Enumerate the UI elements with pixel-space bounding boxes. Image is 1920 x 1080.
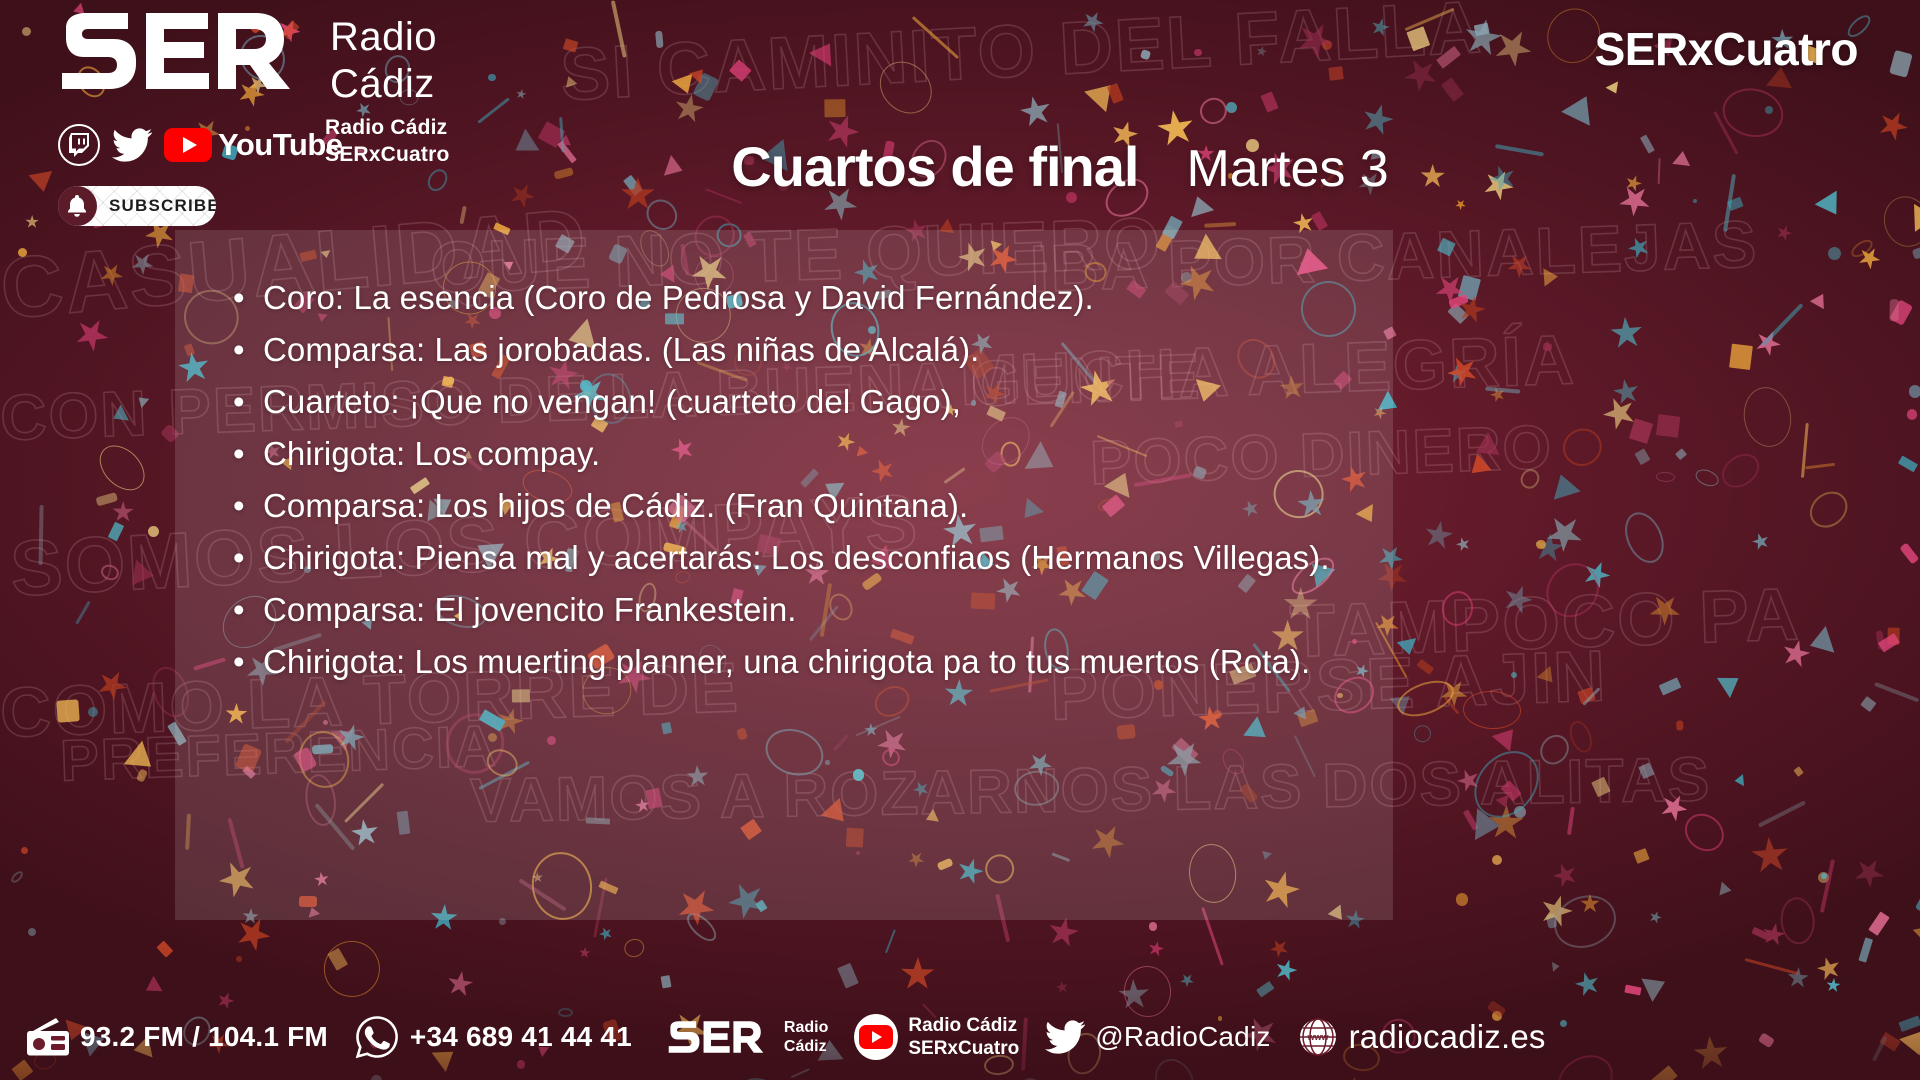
confetti-piece [1454,766,1483,795]
confetti-piece [1437,238,1456,257]
confetti-piece [1503,250,1534,281]
confetti-piece [134,393,149,408]
confetti-piece [1744,829,1796,881]
confetti-piece [90,437,153,500]
confetti-piece [38,504,43,564]
confetti-piece [1889,299,1913,326]
confetti-piece [693,72,720,101]
confetti-piece [1611,377,1641,407]
confetti-piece [1852,857,1885,890]
footer-frequency-group: 93.2 FM / 104.1 FM [26,1018,328,1056]
confetti-piece [1793,766,1803,776]
confetti-piece [1753,328,1782,357]
confetti-piece [1873,682,1919,703]
confetti-piece [1693,199,1698,204]
confetti-piece [1448,294,1468,309]
confetti-piece [1483,801,1528,846]
confetti-piece [1752,532,1770,550]
confetti-piece [1404,8,1453,31]
poster-canvas: SI CAMINITO DEL FALLACASUALIDADQUE NO TE… [0,0,1920,1080]
lineup-panel: Coro: La esencia (Coro de Pedrosa y Davi… [175,230,1393,920]
watermark-text: SI CAMINITO DEL FALLA [558,0,1484,117]
confetti-piece [1854,243,1884,273]
confetti-piece [1877,191,1920,254]
confetti-piece [1204,222,1236,228]
confetti-piece [1273,956,1301,984]
confetti-piece [1470,431,1500,463]
confetti-piece [327,948,347,971]
confetti-piece [478,97,511,123]
confetti-piece [885,929,896,954]
confetti-piece [99,262,124,287]
confetti-piece [1539,507,1591,559]
confetti-piece [1497,579,1538,620]
confetti-piece [132,559,156,588]
lineup-item: Coro: La esencia (Coro de Pedrosa y Davi… [233,272,1363,324]
confetti-piece [1806,626,1835,659]
confetti-piece [1463,809,1479,831]
confetti-piece [1633,849,1649,865]
confetti-piece [148,526,159,537]
headline-row: Cuartos de final Martes 3 [0,134,1920,199]
confetti-piece [1765,106,1773,114]
confetti-piece [1678,806,1732,859]
confetti-piece [611,1,627,58]
footer-youtube-channels: Radio Cádiz SERxCuatro [908,1014,1019,1060]
confetti-piece [1566,717,1596,755]
confetti-piece [1600,393,1640,433]
confetti-piece [621,936,646,959]
footer-youtube-group: Radio Cádiz SERxCuatro [854,1014,1019,1060]
confetti-piece [1546,913,1558,928]
lineup-item: Chirigota: Los compay. [233,428,1363,480]
confetti-piece [655,31,663,48]
confetti-piece [1674,448,1687,461]
confetti-piece [809,37,841,67]
confetti-piece [1734,774,1744,787]
confetti-piece [515,88,527,100]
confetti-piece [1913,915,1920,950]
confetti-piece [75,601,91,625]
confetti-piece [459,205,466,224]
footer-whatsapp-number: +34 689 41 44 41 [410,1021,632,1053]
confetti-piece [1534,729,1575,770]
confetti-piece [1820,858,1835,912]
station-name: Radio Cádiz [330,14,437,108]
lineup-item: Comparsa: El jovencito Frankestein. [233,584,1363,636]
confetti-piece [1542,342,1552,351]
confetti-piece [598,926,614,942]
confetti-piece [1552,962,1560,973]
confetti-piece [1915,892,1920,916]
footer-twitter-handle: @RadioCadiz [1095,1021,1270,1053]
station-name-line1: Radio [330,14,437,61]
confetti-piece [1458,275,1481,301]
confetti-piece [1647,909,1665,927]
confetti-piece [18,248,27,257]
confetti-piece [1548,858,1582,892]
confetti-piece [1656,471,1675,482]
footer-website: radiocadiz.es [1349,1018,1546,1056]
confetti-piece [895,952,939,996]
confetti-piece [1536,891,1577,932]
ser-wordmark-icon [58,10,294,92]
confetti-piece [56,699,79,722]
confetti-piece [870,51,942,123]
confetti-piece [1582,687,1600,706]
confetti-piece [1462,689,1522,730]
confetti-piece [1591,776,1610,796]
confetti-piece [1438,588,1476,629]
confetti-piece [109,405,129,427]
confetti-piece [1801,423,1808,478]
confetti-piece [1495,795,1512,810]
confetti-piece [1145,938,1168,961]
confetti-piece [1014,89,1059,134]
confetti-piece [1501,780,1522,801]
confetti-piece [1444,696,1460,715]
confetti-piece [837,963,858,988]
confetti-piece [729,60,751,82]
confetti-piece [1889,50,1912,77]
whatsapp-icon [354,1014,400,1060]
confetti-piece [1149,922,1158,931]
footer-ser-station-line2: Cádiz [784,1037,828,1056]
confetti-piece [1361,103,1394,136]
confetti-piece [1389,688,1416,716]
confetti-piece [912,16,959,59]
confetti-piece [1453,197,1467,211]
confetti-piece [1485,387,1520,394]
confetti-piece [1777,636,1814,673]
radio-icon [26,1018,70,1056]
confetti-piece [1761,304,1804,348]
confetti-piece [1107,83,1124,104]
confetti-piece [1511,672,1517,678]
confetti-piece [69,312,114,357]
confetti-piece [96,492,118,506]
footer-twitter-group: @RadioCadiz [1045,1020,1270,1054]
confetti-piece [1649,594,1681,626]
confetti-piece [1719,882,1732,898]
confetti-piece [1226,102,1237,113]
program-badge: SERxCuatro [1595,22,1858,76]
confetti-piece [1617,506,1671,569]
footer-youtube-line1: Radio Cádiz [908,1014,1019,1037]
confetti-piece [660,975,671,989]
confetti-piece [1888,628,1900,645]
confetti-piece [1676,721,1683,731]
confetti-piece [1818,872,1829,883]
confetti-piece [1474,23,1490,37]
confetti-piece [1488,385,1507,404]
confetti-piece [1311,211,1328,231]
confetti-piece [1322,40,1332,50]
lineup-item: Comparsa: Los hijos de Cádiz. (Fran Quin… [233,480,1363,532]
confetti-piece [1773,222,1795,244]
globe-icon: www [1297,1016,1339,1058]
confetti-piece [1890,300,1899,322]
footer-bar: 93.2 FM / 104.1 FM +34 689 41 44 41 [0,994,1920,1080]
confetti-piece [1656,414,1681,438]
confetti-piece [136,768,148,782]
lineup-item: Chirigota: Los muerting planner, una chi… [233,636,1363,688]
confetti-piece [1558,422,1608,471]
station-name-line2: Cádiz [330,61,437,108]
svg-text:www: www [1306,1032,1329,1042]
confetti-piece [1757,919,1789,951]
confetti-piece [1825,976,1843,994]
footer-website-group: www radiocadiz.es [1297,1016,1546,1058]
footer-whatsapp-group: +34 689 41 44 41 [354,1014,632,1060]
confetti-piece [1517,466,1543,493]
confetti-piece [1254,43,1270,59]
confetti-piece [23,213,41,231]
confetti-piece [1536,553,1610,628]
event-date: Martes 3 [1186,139,1388,199]
confetti-piece [1745,957,1798,974]
confetti-piece [1464,454,1491,482]
footer-youtube-line2: SERxCuatro [908,1037,1019,1060]
confetti-piece [1909,385,1920,398]
confetti-piece [1456,893,1468,905]
lineup-item: Cuarteto: ¡Que no vengan! (cuarteto del … [233,376,1363,428]
confetti-piece [1876,630,1886,650]
confetti-piece [1899,455,1918,471]
confetti-piece [1716,448,1765,495]
confetti-piece [1084,75,1122,112]
confetti-piece [1457,295,1487,325]
confetti-piece [1177,970,1197,990]
confetti-piece [1758,801,1806,828]
confetti-piece [1635,448,1651,464]
confetti-piece [563,38,578,52]
confetti-piece [1779,895,1817,945]
confetti-piece [669,89,709,129]
confetti-piece [1461,15,1505,59]
confetti-piece [1907,409,1918,420]
confetti-piece [1786,966,1809,989]
confetti-piece [1370,17,1390,37]
confetti-piece [1445,354,1480,389]
confetti-piece [22,27,31,36]
confetti-piece [28,928,36,936]
confetti-piece [824,99,845,118]
confetti-piece [157,940,173,957]
confetti-piece [1536,666,1559,688]
confetti-piece [1605,82,1622,97]
confetti-piece [1440,678,1469,707]
confetti-piece [1401,55,1440,94]
confetti-piece [578,946,592,960]
confetti-piece [1911,246,1920,259]
confetti-piece [1406,27,1430,52]
confetti-piece [1878,632,1900,652]
confetti-piece [1812,953,1845,986]
confetti-piece [1194,49,1202,57]
confetti-piece [1567,807,1575,835]
confetti-piece [1561,89,1601,125]
confetti-piece [1655,789,1692,826]
subscribe-label: SUBSCRIBE [109,196,216,216]
confetti-piece [1582,560,1611,589]
confetti-piece [1739,384,1796,452]
confetti-piece [562,75,577,88]
confetti-piece [1659,677,1681,695]
confetti-piece [1447,303,1468,324]
confetti-piece [1196,93,1232,129]
confetti-piece [1544,267,1559,286]
confetti-piece [9,869,24,884]
confetti-piece [1260,92,1278,113]
confetti-piece [1514,806,1526,818]
confetti-piece [1081,9,1105,33]
confetti-piece [1576,890,1604,918]
confetti-piece [1441,77,1464,101]
confetti-piece [1849,237,1876,261]
lineup-list: Coro: La esencia (Coro de Pedrosa y Davi… [233,272,1363,688]
confetti-piece [1752,927,1770,941]
confetti-piece [1858,938,1873,963]
confetti-piece [1475,808,1501,842]
confetti-piece [1531,530,1567,566]
confetti-piece [1419,516,1458,555]
confetti-piece [1492,855,1502,865]
confetti-piece [1290,16,1340,66]
lineup-item: Chirigota: Piensa mal y acertarás: Los d… [233,532,1363,584]
confetti-piece [1810,290,1830,309]
lineup-item: Comparsa: Las jorobadas. (Las niñas de A… [233,324,1363,376]
footer-ser-group: Radio Cádiz [658,1018,828,1056]
confetti-piece [123,740,160,778]
confetti-piece [1329,66,1344,80]
confetti-piece [108,521,125,541]
twitter-icon-footer [1045,1020,1085,1054]
confetti-piece [1626,235,1652,261]
confetti-piece [1603,310,1650,357]
ser-wordmark-icon-footer [658,1020,774,1054]
confetti-piece [1416,658,1434,674]
confetti-piece [112,500,134,522]
confetti-piece [1547,887,1624,956]
confetti-piece [1729,343,1753,370]
confetti-piece [1436,46,1460,68]
confetti-piece [1140,49,1152,60]
confetti-piece [1414,725,1432,742]
confetti-piece [1803,485,1854,535]
youtube-icon-footer [854,1014,898,1060]
confetti-piece [1392,674,1458,723]
page-title: Cuartos de final [731,134,1138,199]
confetti-piece [488,74,496,82]
confetti-piece [1914,203,1920,232]
confetti-piece [1536,540,1546,550]
footer-frequencies: 93.2 FM / 104.1 FM [80,1021,328,1053]
confetti-piece [1717,668,1745,698]
confetti-piece [1693,466,1721,489]
confetti-piece [90,664,133,707]
confetti-piece [1492,721,1523,751]
confetti-piece [1899,542,1919,564]
confetti-piece [1828,247,1841,260]
confetti-piece [1868,911,1890,936]
confetti-piece [672,74,698,97]
confetti-piece [21,847,29,855]
footer-ser-station: Radio Cádiz [784,1018,828,1056]
confetti-piece [1639,762,1655,779]
confetti-piece [126,247,158,279]
confetti-piece [88,707,98,717]
confetti-piece [1861,696,1877,712]
confetti-piece [1486,22,1539,75]
confetti-piece [1461,738,1552,831]
confetti-piece [689,65,709,84]
confetti-piece [1453,534,1473,554]
confetti-piece [1821,873,1827,879]
confetti-piece [1548,470,1581,499]
confetti-piece [1444,361,1471,388]
confetti-piece [1577,687,1596,704]
confetti-piece [1429,268,1471,310]
confetti-piece [1629,418,1654,443]
footer-ser-station-line1: Radio [784,1018,828,1037]
confetti-piece [1397,638,1420,657]
confetti-piece [1805,463,1835,469]
ser-logo [58,10,294,92]
confetti-piece [1267,936,1292,961]
confetti-piece [99,562,121,582]
confetti-piece [236,956,242,962]
